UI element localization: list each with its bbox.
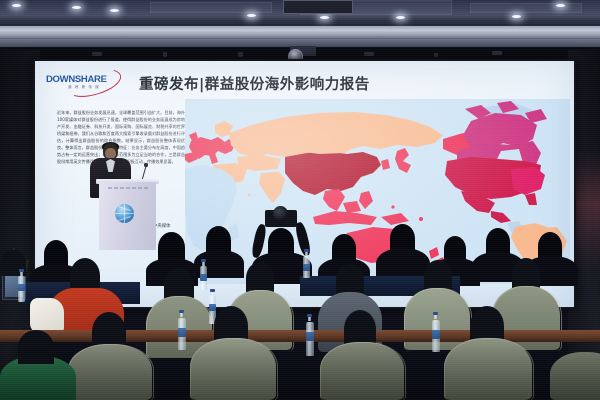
ceiling-light-icon: [512, 15, 521, 18]
ceiling-light-icon: [12, 4, 21, 7]
water-bottle-label: [18, 284, 25, 291]
water-bottle-neck: [20, 272, 23, 276]
water-bottle-neck: [180, 313, 183, 317]
water-bottle-neck: [308, 317, 311, 321]
water-bottle-label: [432, 330, 440, 339]
podium-nameplate: [108, 187, 148, 189]
slide-title: 重磅发布|群益股份海外影响力报告: [139, 73, 370, 94]
ceiling-fixture: [492, 51, 502, 55]
ceiling-light-icon: [72, 6, 81, 9]
water-bottle-cap: [307, 314, 312, 317]
podium: [99, 182, 156, 250]
ceiling-fixture: [364, 52, 374, 56]
map-island: [391, 205, 394, 208]
ceiling-fixture: [92, 52, 102, 56]
ceiling-fixture: [434, 53, 438, 57]
ceiling-fixture: [238, 52, 243, 57]
water-bottle-label: [303, 264, 310, 271]
ceiling-beam: [0, 26, 600, 40]
white-cloth: [30, 298, 64, 334]
globe-emblem-icon: [115, 204, 134, 223]
water-bottle-cap: [19, 269, 24, 272]
audience-head: [18, 330, 54, 364]
map-island: [419, 217, 423, 221]
ceiling-light-icon: [320, 16, 329, 19]
map-island: [248, 194, 251, 197]
ceiling-light-icon: [110, 9, 119, 12]
water-bottle-label: [209, 304, 216, 311]
water-bottle-label: [200, 274, 207, 281]
water-bottle-neck: [434, 315, 437, 319]
water-bottle-neck: [202, 262, 205, 266]
chair-piping: [444, 338, 534, 400]
water-bottle-neck: [211, 292, 214, 296]
camera-lens-icon: [273, 206, 288, 221]
logo-subtext: 道 琼 斯 传 媒: [68, 85, 100, 90]
water-bottle-neck: [305, 252, 308, 256]
ceiling-fixture: [163, 52, 167, 57]
conference-photo: DOWNSHARE 道 琼 斯 传 媒 重磅发布|群益股份海外影响力报告 近年来…: [0, 0, 600, 400]
water-bottle-cap: [210, 289, 215, 292]
water-bottle-cap: [179, 310, 184, 313]
chair-piping: [320, 342, 406, 400]
chair-cover: [550, 352, 600, 400]
slide-logo: DOWNSHARE 道 琼 斯 传 媒: [46, 70, 124, 96]
projector-housing: [283, 0, 353, 14]
water-bottle-label: [306, 332, 314, 341]
water-bottle-cap: [201, 259, 206, 262]
chair-piping: [190, 338, 278, 400]
water-bottle-cap: [433, 312, 438, 315]
chair-piping: [68, 344, 154, 400]
water-bottle-label: [178, 328, 186, 337]
water-bottle-cap: [304, 249, 309, 252]
logo-wordmark: DOWNSHARE: [46, 74, 107, 85]
ceiling-light-icon: [396, 16, 405, 19]
ceiling-light-icon: [247, 14, 256, 17]
ceiling-light-icon: [556, 4, 565, 7]
slide-body-text: 近年来，群益股份业务发展迅速，全球覆盖范围引益扩大。目前，海外100家媒体对群益…: [57, 109, 185, 165]
microphone-icon: [144, 163, 148, 167]
